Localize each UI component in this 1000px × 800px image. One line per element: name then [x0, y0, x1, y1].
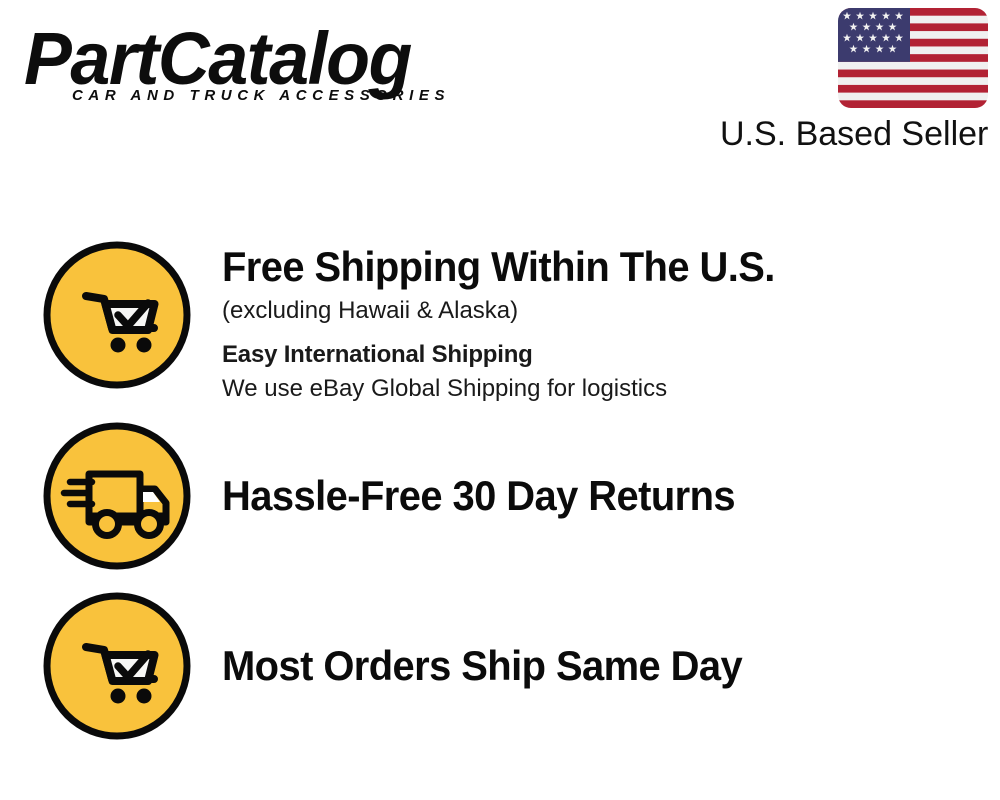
brand-logo[interactable]: PartCatalog CAR AND TRUCK ACCESSORIES [24, 22, 494, 114]
feature-text-block: Most Orders Ship Same Day [192, 591, 982, 741]
us-based-seller-label: U.S. Based Seller [720, 114, 990, 154]
feature-list: Free Shipping Within The U.S. (excluding… [0, 180, 1000, 800]
logo-tagline: CAR AND TRUCK ACCESSORIES [72, 88, 450, 104]
feature-row: Free Shipping Within The U.S. (excluding… [42, 240, 982, 396]
feature-text-block: Free Shipping Within The U.S. (excluding… [192, 240, 982, 406]
feature-heading: Free Shipping Within The U.S. [222, 242, 944, 292]
shopping-cart-check-icon [42, 240, 192, 390]
feature-heading: Hassle-Free 30 Day Returns [222, 421, 944, 571]
feature-row: Hassle-Free 30 Day Returns [42, 418, 982, 574]
feature-subline-bold: Easy International Shipping [222, 338, 982, 372]
feature-subline: (excluding Hawaii & Alaska) [222, 294, 982, 328]
us-based-seller-badge: U.S. Based Seller [720, 8, 990, 154]
feature-row: Most Orders Ship Same Day [42, 588, 982, 744]
feature-text-block: Hassle-Free 30 Day Returns [192, 421, 982, 571]
page-header: PartCatalog CAR AND TRUCK ACCESSORIES [0, 0, 1000, 180]
feature-subline: We use eBay Global Shipping for logistic… [222, 372, 982, 406]
us-flag-icon [838, 8, 988, 108]
logo-wordmark: PartCatalog [24, 22, 480, 96]
feature-heading: Most Orders Ship Same Day [222, 591, 944, 741]
delivery-truck-icon [42, 421, 192, 571]
shopping-cart-check-icon [42, 591, 192, 741]
